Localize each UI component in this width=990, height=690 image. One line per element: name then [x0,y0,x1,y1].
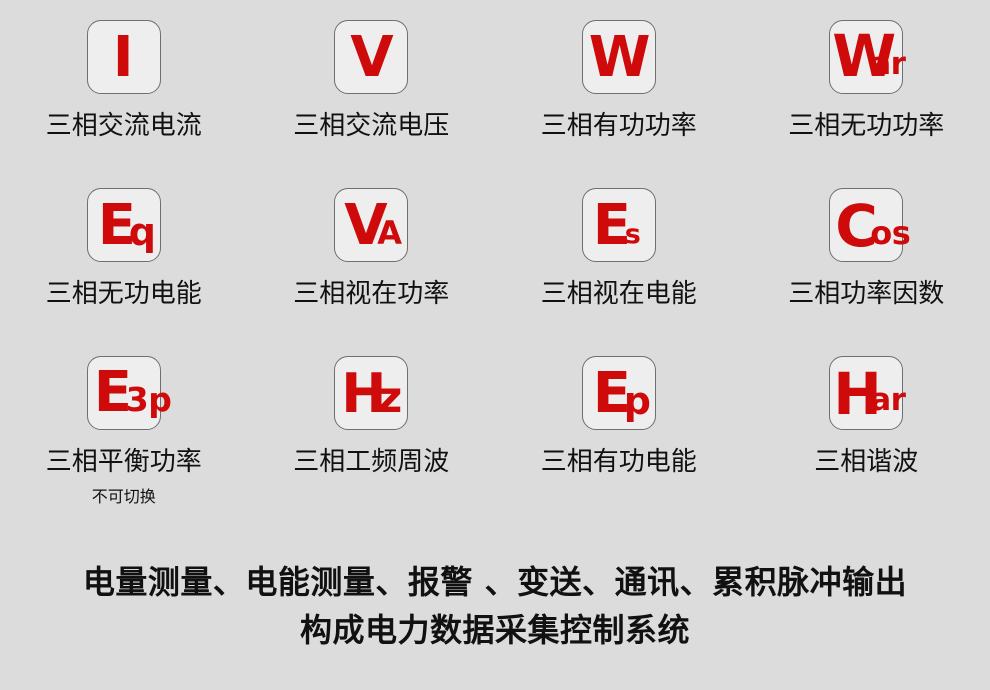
feature-item-three-phase-frequency[interactable]: H z 三相工频周波 [248,342,496,530]
feature-row-1: I 三相交流电流 V 三相交流电压 [0,0,990,172]
apparent-power-icon: V A [335,189,409,263]
product-feature-poster: I 三相交流电流 V 三相交流电压 [0,0,990,690]
icon-label: 三相无功功率 [788,105,944,142]
feature-icon-grid: I 三相交流电流 V 三相交流电压 [0,0,990,530]
feature-item-three-phase-ac-voltage[interactable]: V 三相交流电压 [248,0,496,172]
icon-label: 三相有功功率 [541,105,697,142]
feature-item-three-phase-apparent-energy[interactable]: E s 三相视在电能 [495,172,743,342]
icon-label: 三相谐波 [814,441,918,478]
icon-tile: I [87,20,161,94]
feature-row-2: E q 三相无功电能 V A 三相视在功率 [0,172,990,342]
active-energy-icon: E p [583,357,657,431]
glyph-sub: ar [870,385,905,416]
icon-sublabel: 不可切换 [92,483,156,507]
power-factor-icon: C os [830,189,904,263]
balanced-power-icon: E 3p [88,357,162,431]
icon-label: 三相视在电能 [541,273,697,310]
frequency-icon: H z [335,357,409,431]
footer-line-1: 电量测量、电能测量、报警 、变送、通讯、累积脉冲输出 [0,558,990,606]
glyph-main: V [350,30,392,86]
glyph-sub: q [129,213,156,251]
icon-tile: H ar [829,356,903,430]
apparent-energy-icon: E s [583,189,657,263]
feature-item-three-phase-harmonics[interactable]: H ar 三相谐波 [743,342,990,530]
icon-label: 三相工频周波 [293,441,449,478]
feature-item-three-phase-power-factor[interactable]: C os 三相功率因数 [743,172,990,342]
feature-row-3: E 3p 三相平衡功率 不可切换 H z 三相工频周波 [0,342,990,530]
glyph-sub: ar [870,49,905,80]
footer-caption: 电量测量、电能测量、报警 、变送、通讯、累积脉冲输出 构成电力数据采集控制系统 [0,558,990,654]
reactive-energy-icon: E q [88,189,162,263]
glyph-main: I [113,30,133,86]
feature-item-three-phase-reactive-energy[interactable]: E q 三相无功电能 [0,172,248,342]
active-power-icon: W [583,21,657,95]
feature-item-three-phase-active-energy[interactable]: E p 三相有功电能 [495,342,743,530]
icon-label: 三相功率因数 [788,273,944,310]
glyph-sub: z [377,377,402,420]
icon-tile: V [334,20,408,94]
icon-label: 三相交流电流 [46,105,202,142]
icon-tile: V A [334,188,408,262]
current-icon: I [88,21,162,95]
glyph-sub: os [870,217,910,249]
icon-tile: E 3p [87,356,161,430]
icon-label: 三相平衡功率 [46,441,202,478]
icon-tile: H z [334,356,408,430]
icon-label: 三相视在功率 [293,273,449,310]
icon-tile: W [582,20,656,94]
glyph-main: W [589,30,650,86]
feature-item-three-phase-ac-current[interactable]: I 三相交流电流 [0,0,248,172]
glyph-sub: p [624,382,651,420]
icon-tile: C os [829,188,903,262]
icon-tile: W ar [829,20,903,94]
glyph-sub: A [377,217,401,249]
reactive-power-icon: W ar [830,21,904,95]
icon-label: 三相无功电能 [46,273,202,310]
icon-tile: E q [87,188,161,262]
feature-item-three-phase-reactive-power[interactable]: W ar 三相无功功率 [743,0,990,172]
glyph-sub: 3p [126,383,172,416]
icon-label: 三相交流电压 [293,105,449,142]
footer-line-2: 构成电力数据采集控制系统 [0,606,990,654]
feature-item-three-phase-apparent-power[interactable]: V A 三相视在功率 [248,172,496,342]
harmonics-icon: H ar [830,357,904,431]
voltage-icon: V [335,21,409,95]
icon-label: 三相有功电能 [541,441,697,478]
icon-tile: E p [582,356,656,430]
feature-item-three-phase-balanced-power[interactable]: E 3p 三相平衡功率 不可切换 [0,342,248,530]
glyph-sub: s [625,221,641,248]
icon-tile: E s [582,188,656,262]
feature-item-three-phase-active-power[interactable]: W 三相有功功率 [495,0,743,172]
